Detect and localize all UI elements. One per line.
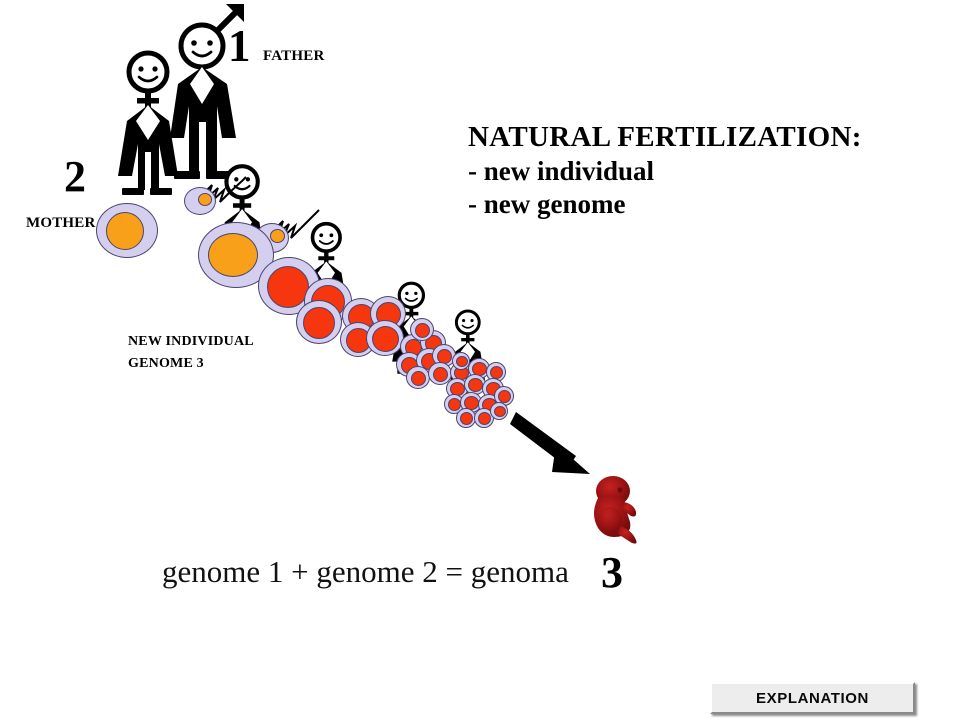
fetus-illustration (580, 470, 660, 550)
explanation-button-wrapper: EXPLANATION (710, 682, 915, 714)
eight-cell-g (406, 366, 430, 389)
morula-cell (452, 352, 470, 370)
heading-title: NATURAL FERTILIZATION: (468, 120, 862, 155)
two-cell-b (296, 300, 342, 344)
heading-bullet-new-individual: - new individual (468, 155, 862, 188)
label-number-three: 3 (601, 551, 623, 595)
heading-bullet-new-genome: - new genome (468, 188, 862, 221)
sperm-cell-two (255, 185, 375, 255)
label-number-two: 2 (64, 155, 86, 199)
genome-equation: genome 1 + genome 2 = genoma (162, 554, 569, 590)
slide-canvas: 1 FATHER 2 MOTHER NEW INDIVIDUAL GENOME … (0, 0, 960, 720)
label-father: FATHER (263, 48, 324, 65)
heading-natural-fertilization: NATURAL FERTILIZATION: - new individual … (468, 120, 862, 221)
four-cell-d (366, 320, 404, 356)
label-mother: MOTHER (26, 215, 96, 232)
label-new-individual-line1: NEW INDIVIDUAL (128, 334, 254, 350)
sperm-head-one (184, 187, 216, 215)
explanation-button[interactable]: EXPLANATION (710, 682, 915, 714)
morula-cell (490, 402, 508, 420)
egg-cell-mother (96, 203, 158, 258)
label-new-individual-line2: GENOME 3 (128, 356, 204, 372)
label-number-one: 1 (228, 24, 251, 69)
eight-cell-e (410, 318, 434, 341)
morula-cell (456, 408, 476, 428)
